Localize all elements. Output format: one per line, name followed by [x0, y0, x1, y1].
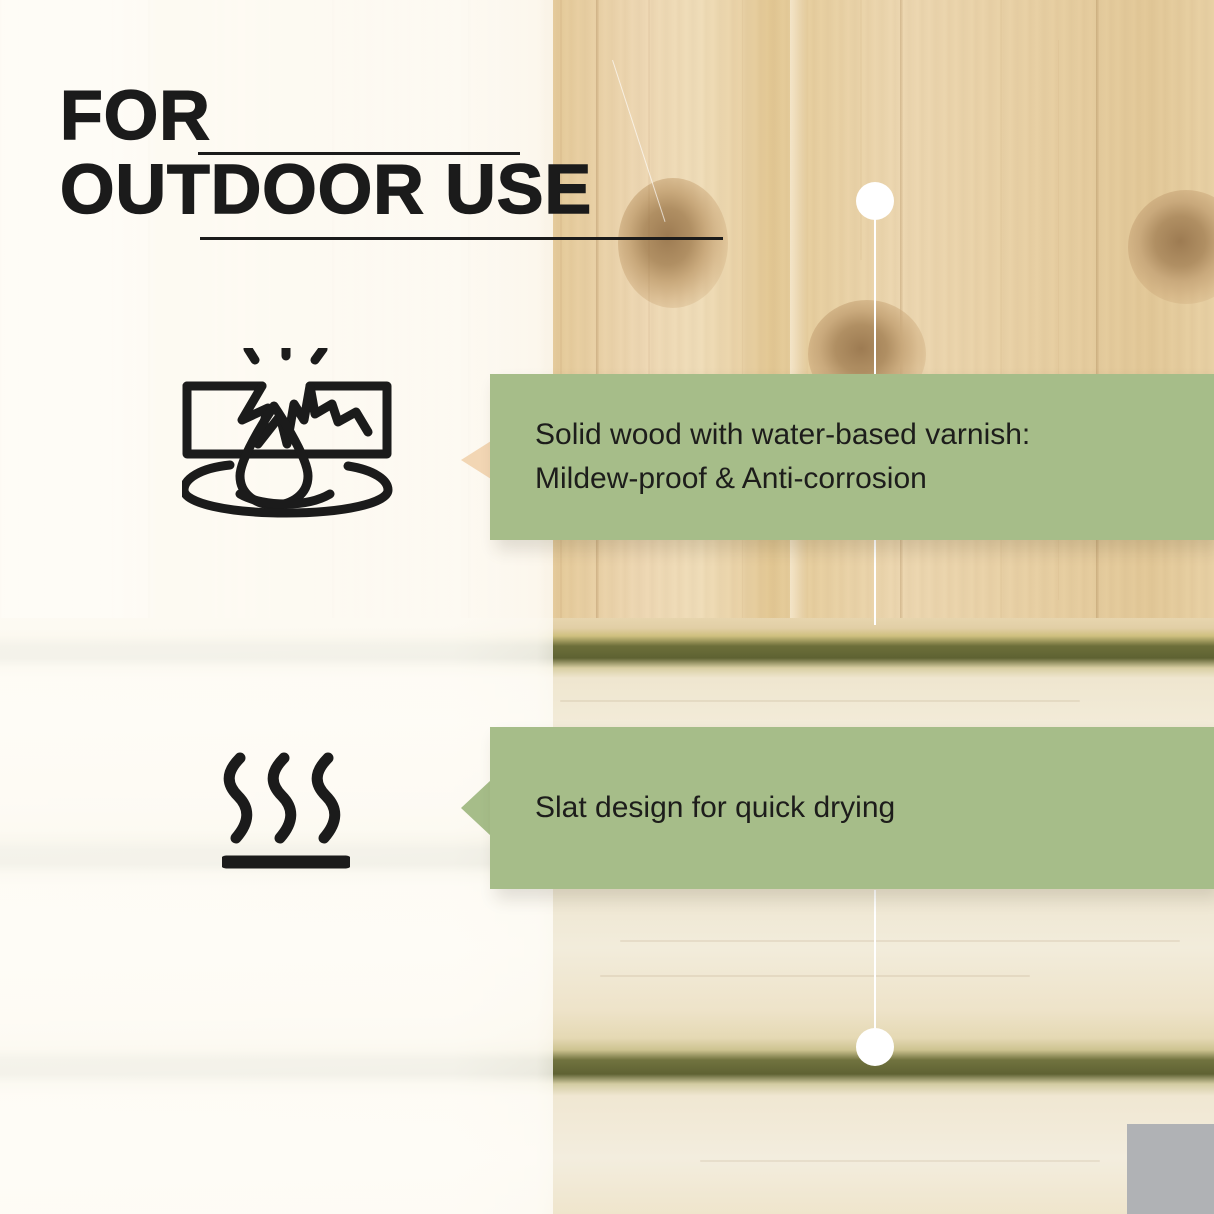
title-underline-2: [200, 237, 723, 240]
infographic-canvas: FOR OUTDOOR USE: [0, 0, 1214, 1214]
pin-dot-upper: [856, 182, 894, 220]
title-underline-1: [198, 152, 520, 155]
callout-text-slat-drying: Slat design for quick drying: [490, 786, 895, 830]
steam-lines-icon: [222, 752, 350, 870]
wood-grain: [620, 940, 1180, 942]
wood-grain: [560, 700, 1080, 702]
callout-text-varnish-line-1: Solid wood with water-based varnish:: [535, 413, 1030, 457]
callout-banner-slat-drying[interactable]: Slat design for quick drying: [490, 727, 1214, 889]
callout-text-varnish-line-2: Mildew-proof & Anti-corrosion: [535, 457, 1030, 501]
callout-pointer-2: [461, 780, 491, 836]
wood-grain: [600, 975, 1030, 977]
callout-text-slat-drying-line-1: Slat design for quick drying: [535, 786, 895, 830]
callout-banner-varnish[interactable]: Solid wood with water-based varnish: Mil…: [490, 374, 1214, 540]
page-title-line-2: OUTDOOR USE: [60, 152, 760, 226]
pin-leader-line-lower: [874, 890, 876, 1036]
wood-grain: [700, 1160, 1100, 1162]
pin-dot-lower: [856, 1028, 894, 1066]
wood-grain: [860, 0, 862, 260]
cracked-board-waterdrop-icon: [182, 348, 397, 518]
page-title-line-1: FOR: [60, 78, 760, 152]
callout-text-varnish: Solid wood with water-based varnish: Mil…: [490, 413, 1030, 501]
corner-grey-block: [1127, 1124, 1214, 1214]
callout-pointer-1: [461, 441, 491, 479]
